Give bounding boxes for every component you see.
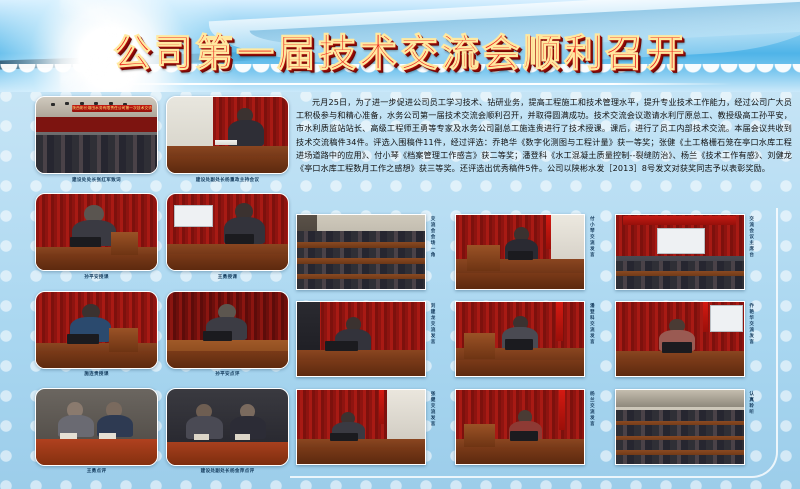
photo-caption: 建设处处长张红军致词	[72, 177, 121, 183]
photo-item[interactable]: 乔艳华交流发言	[615, 301, 766, 382]
photo-item[interactable]: 施连贵授课	[36, 291, 157, 384]
photo-thumbnail[interactable]	[35, 291, 158, 369]
photo-caption: 王勇点评	[87, 468, 107, 474]
photo-thumbnail[interactable]	[455, 214, 585, 290]
photo-item[interactable]: 交流会会场一角	[296, 214, 447, 295]
photo-item[interactable]: 交流会议主席台	[615, 214, 766, 295]
article-paragraph: 元月25日，为了进一步促进公司员工学习技术、钻研业务，提高工程施工和技术管理水平…	[296, 96, 792, 175]
photo-item[interactable]: 陕西彬长煤田水务有限责任公司第一次技术交流 建设处处长张红军致词	[36, 96, 157, 189]
photo-caption: 乔艳华交流发言	[748, 303, 754, 345]
photo-caption: 潘登科交流发言	[588, 303, 594, 345]
photo-caption: 认真聆听	[748, 391, 754, 415]
photo-caption: 付小琴交流发言	[588, 216, 594, 258]
photo-caption: 孙平安点评	[215, 371, 239, 377]
photo-thumbnail[interactable]	[296, 301, 426, 377]
photo-caption: 交流会会场一角	[429, 216, 435, 258]
photo-thumbnail[interactable]	[166, 388, 289, 466]
photo-item[interactable]: 张健交流发言	[296, 389, 447, 470]
photo-thumbnail[interactable]	[166, 193, 289, 271]
photo-caption: 王勇授课	[218, 274, 238, 280]
photo-caption: 建设处副处长杨金萍点评	[201, 468, 255, 474]
photo-caption: 孙平安授课	[84, 274, 108, 280]
photo-thumbnail[interactable]	[166, 96, 289, 174]
photo-banner-text: 陕西彬长煤田水务有限责任公司第一次技术交流	[72, 105, 152, 113]
left-photo-grid: 陕西彬长煤田水务有限责任公司第一次技术交流 建设处处长张红军致词 建设处副处长杨…	[36, 96, 288, 481]
right-photo-grid: 交流会会场一角 付小琴交流发言	[296, 214, 766, 470]
photo-thumbnail[interactable]	[35, 193, 158, 271]
photo-item[interactable]: 潘登科交流发言	[455, 301, 606, 382]
photo-item[interactable]: 孙平安点评	[167, 291, 288, 384]
photo-item[interactable]: 王勇点评	[36, 388, 157, 481]
poster-root: 公司第一届技术交流会顺利召开 元月25日，为了进一步促进公司员工学习技术、钻研业…	[0, 0, 800, 489]
header-banner: 公司第一届技术交流会顺利召开	[0, 0, 800, 92]
photo-item[interactable]: 杨兰交流发言	[455, 389, 606, 470]
photo-thumbnail[interactable]	[615, 389, 745, 465]
photo-item[interactable]: 建设处副处长杨重政主持会议	[167, 96, 288, 189]
photo-item[interactable]: 付小琴交流发言	[455, 214, 606, 295]
photo-thumbnail[interactable]	[35, 388, 158, 466]
photo-thumbnail[interactable]	[455, 301, 585, 377]
photo-item[interactable]: 刘建龙交流发言	[296, 301, 447, 382]
photo-thumbnail[interactable]: 陕西彬长煤田水务有限责任公司第一次技术交流	[35, 96, 158, 174]
page-title: 公司第一届技术交流会顺利召开	[0, 22, 800, 77]
photo-caption: 刘建龙交流发言	[429, 303, 435, 345]
photo-thumbnail[interactable]	[296, 389, 426, 465]
photo-caption: 建设处副处长杨重政主持会议	[196, 177, 260, 183]
photo-thumbnail[interactable]	[166, 291, 289, 369]
photo-item[interactable]: 王勇授课	[167, 193, 288, 286]
photo-caption: 施连贵授课	[84, 371, 108, 377]
photo-thumbnail[interactable]	[296, 214, 426, 290]
photo-item[interactable]: 认真聆听	[615, 389, 766, 470]
photo-item[interactable]: 建设处副处长杨金萍点评	[167, 388, 288, 481]
article-body: 元月25日，为了进一步促进公司员工学习技术、钻研业务，提高工程施工和技术管理水平…	[296, 96, 792, 175]
photo-item[interactable]: 孙平安授课	[36, 193, 157, 286]
photo-thumbnail[interactable]	[455, 389, 585, 465]
photo-thumbnail[interactable]	[615, 214, 745, 290]
photo-caption: 张健交流发言	[429, 391, 435, 427]
photo-caption: 杨兰交流发言	[588, 391, 594, 427]
header-divider-line	[72, 83, 732, 85]
photo-thumbnail[interactable]	[615, 301, 745, 377]
photo-caption: 交流会议主席台	[748, 216, 754, 258]
